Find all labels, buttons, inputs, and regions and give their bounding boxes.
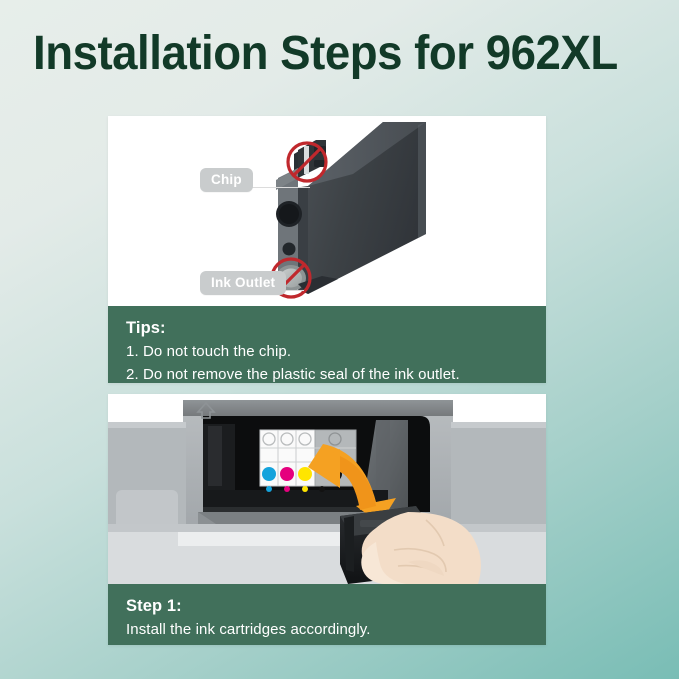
tips-caption-bar: Tips: 1. Do not touch the chip. 2. Do no…: [108, 306, 546, 383]
magenta-slot-dot: [280, 467, 294, 481]
page-title: Installation Steps for 962XL: [33, 28, 622, 81]
step-caption-bar: Step 1: Install the ink cartridges accor…: [108, 584, 546, 645]
cyan-slot-dot: [262, 467, 276, 481]
ink-outlet-callout-label: Ink Outlet: [200, 271, 286, 295]
yellow-slot-dot: [298, 467, 312, 481]
chip-callout-label: Chip: [200, 168, 253, 192]
cartridge-illustration: Chip Ink Outlet: [108, 116, 546, 306]
ink-cartridge-svg: [108, 116, 546, 306]
printer-illustration: [108, 394, 546, 584]
step-line-1: Install the ink cartridges accordingly.: [126, 619, 528, 642]
step-heading: Step 1:: [126, 595, 528, 617]
tips-line-2: 2. Do not remove the plastic seal of the…: [126, 364, 528, 387]
tips-line-1: 1. Do not touch the chip.: [126, 341, 528, 364]
step-card: Step 1: Install the ink cartridges accor…: [108, 394, 546, 645]
tips-card: Chip Ink Outlet Tips: 1. Do not touch th…: [108, 116, 546, 383]
tips-heading: Tips:: [126, 317, 528, 339]
printer-bay-svg: [108, 394, 546, 584]
